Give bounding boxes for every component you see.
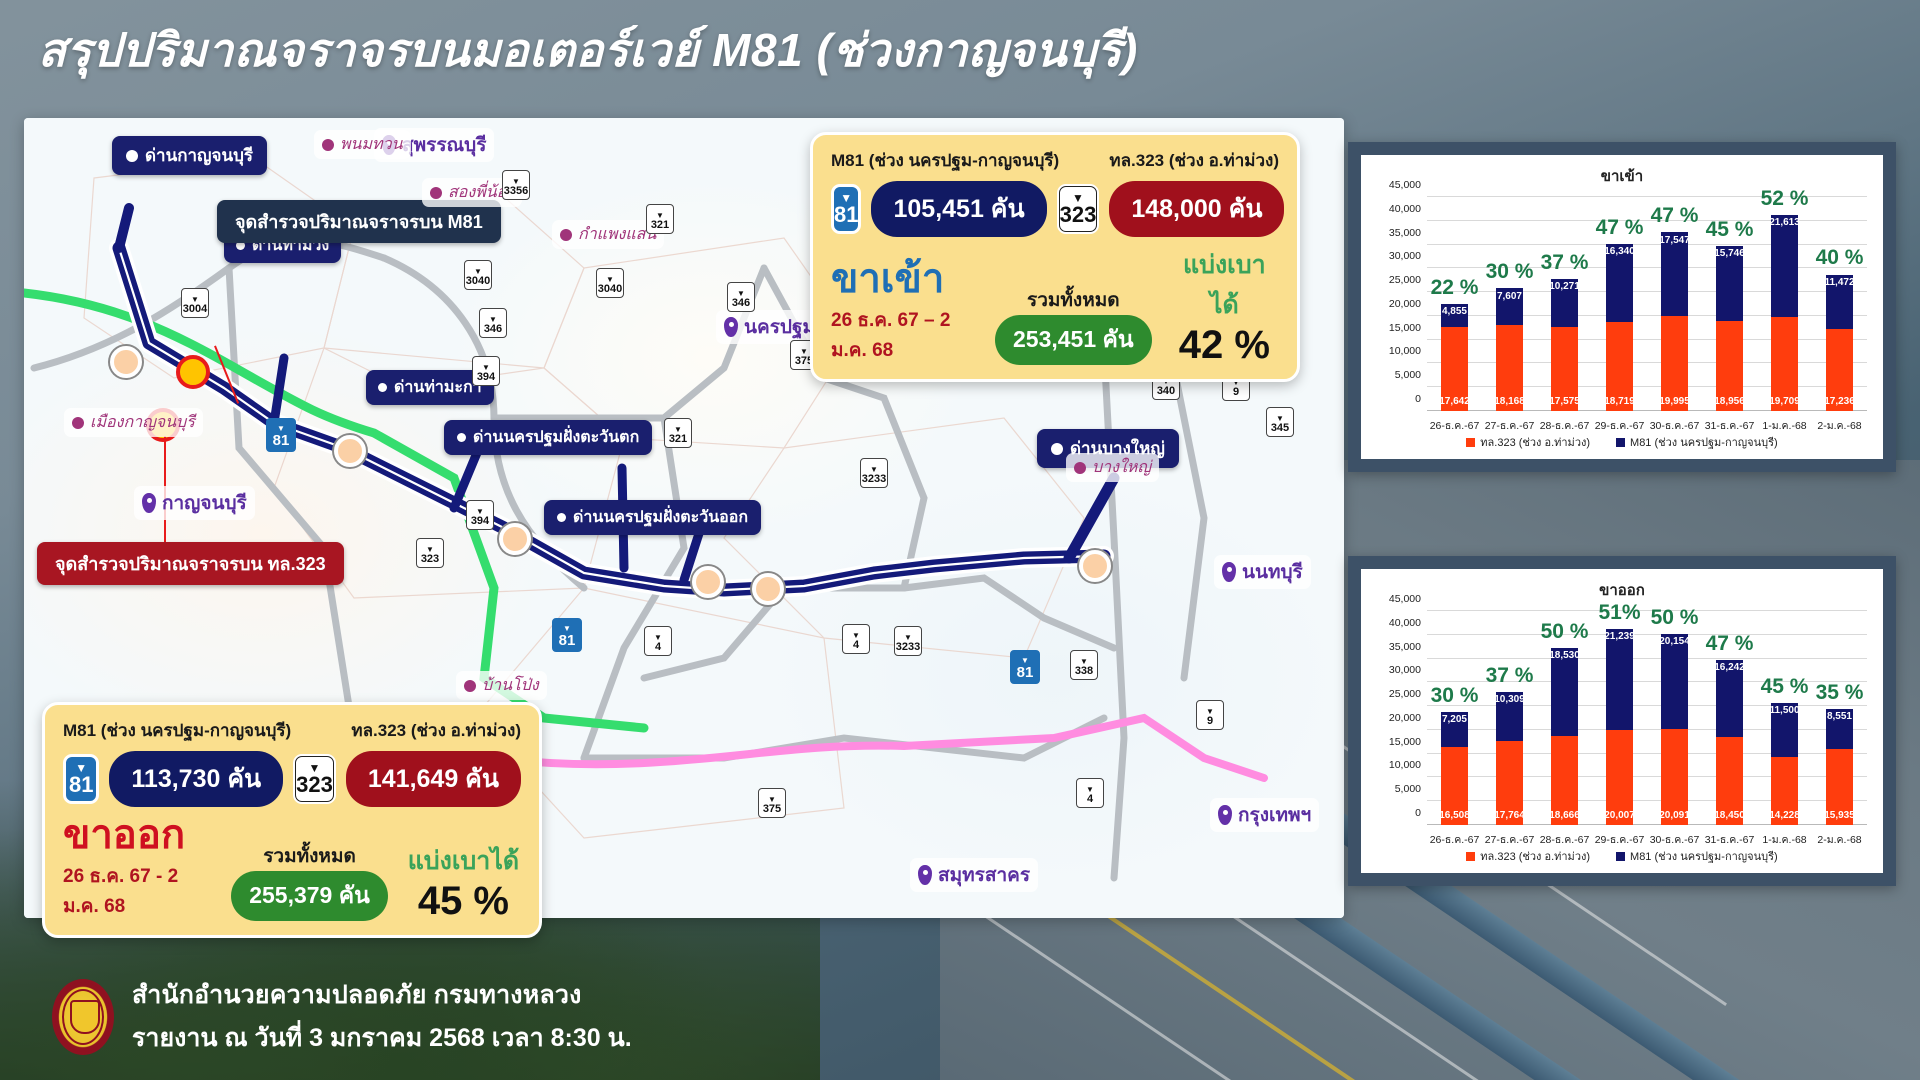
chart-bar-segment: 21,613 (1771, 215, 1797, 318)
outbound-reduce-pct: 45 % (406, 881, 521, 921)
city-label: นนทบุรี (1242, 557, 1303, 587)
chart-value-label: 20,091 (1659, 810, 1690, 821)
checkpoint-dot-icon (557, 513, 566, 522)
chart-bar-segment: 18,530 (1551, 648, 1577, 736)
chart-value-label: 7,205 (1442, 714, 1467, 725)
shield-number: 346 (732, 297, 750, 309)
route-shield: ▼ 3040 (464, 260, 492, 290)
checkpoint-kanchanaburi[interactable]: ด่านกาญจนบุรี (112, 136, 267, 175)
outbound-date-range: 26 ธ.ค. 67 - 2 ม.ค. 68 (63, 861, 213, 921)
chart-bar-segment: 17,575 (1551, 327, 1577, 411)
shield-number: 4 (655, 641, 661, 653)
chart-bar-stack: 17,54719,995 (1661, 232, 1687, 411)
place-dot-icon (464, 680, 476, 692)
chart-bar-stack: 15,74618,956 (1716, 246, 1742, 411)
chart-bar-segment: 15,746 (1716, 246, 1742, 321)
chart-plot-area: 05,00010,00015,00020,00025,00030,00035,0… (1427, 611, 1867, 825)
place-label: บางใหญ่ (1092, 455, 1151, 480)
place-label: บ้านโป่ง (482, 673, 539, 698)
shield-number: 3356 (504, 185, 528, 197)
city-nonthaburi: นนทบุรี (1214, 555, 1311, 589)
chart-y-tick-label: 25,000 (1389, 274, 1421, 286)
outbound-direction-label: ขาออก (63, 815, 213, 855)
chart-bar-column[interactable]: 21,23920,00751%29-ธ.ค.-67 (1592, 611, 1647, 825)
route-shield: ▼ 321 (646, 204, 674, 234)
chart-value-label: 11,500 (1769, 705, 1799, 716)
chart-bar-stack: 11,50014,228 (1771, 703, 1797, 825)
map-pin-icon (1218, 805, 1232, 825)
outbound-total-value: 255,379 คัน (231, 871, 388, 921)
chart-percent-annotation: 37 % (1486, 664, 1534, 688)
chart-bar-segment: 18,719 (1606, 322, 1632, 411)
chart-bar-stack: 16,34018,719 (1606, 244, 1632, 411)
footer-text: สำนักอำนวยความปลอดภัย กรมทางหลวง รายงาน … (132, 975, 632, 1058)
chart-value-label: 16,508 (1439, 810, 1470, 821)
route-shield-81: ▼ 81 (266, 418, 296, 452)
checkpoint-nakhon-pathom-east[interactable]: ด่านนครปฐมฝั่งตะวันออก (544, 500, 761, 535)
chart-percent-annotation: 35 % (1816, 681, 1864, 705)
interchange-node (692, 566, 724, 598)
chart-bar-segment: 17,236 (1826, 329, 1852, 411)
chart-value-label: 20,154 (1659, 636, 1690, 647)
chart-value-label: 17,575 (1549, 396, 1580, 407)
chart-bar-column[interactable]: 4,85517,64222 %26-ธ.ค.-67 (1427, 197, 1482, 411)
place-dot-icon (560, 229, 572, 241)
chart-value-label: 15,935 (1824, 810, 1855, 821)
place-dot-icon (430, 187, 442, 199)
chart-y-tick-label: 10,000 (1389, 345, 1421, 357)
chart-bar-segment: 14,228 (1771, 757, 1797, 825)
chart-percent-annotation: 30 % (1486, 260, 1534, 284)
interchange-node (110, 346, 142, 378)
chart-bar-column[interactable]: 10,27117,57537 %28-ธ.ค.-67 (1537, 197, 1592, 411)
chart-bar-segment: 20,091 (1661, 729, 1687, 825)
route-shield: ▼ 3233 (860, 458, 888, 488)
chart-value-label: 18,666 (1549, 810, 1580, 821)
checkpoint-label: ด่านกาญจนบุรี (145, 142, 253, 169)
checkpoint-nakhon-pathom-west[interactable]: ด่านนครปฐมฝั่งตะวันตก (444, 420, 652, 455)
route-shield: ▼ 345 (1266, 407, 1294, 437)
chart-bar-segment: 16,340 (1606, 244, 1632, 322)
chart-bar-stack: 21,23920,007 (1606, 629, 1632, 825)
city-label: กาญจนบุรี (162, 488, 247, 518)
chart-value-label: 17,236 (1824, 396, 1855, 407)
chart-percent-annotation: 47 % (1706, 632, 1754, 656)
city-nakhon-pathom: นครปฐม (716, 310, 823, 344)
chart-value-label: 18,719 (1604, 396, 1635, 407)
route-shield: ▼ 394 (472, 356, 500, 386)
chart-y-tick-label: 5,000 (1395, 369, 1421, 381)
government-seal-icon (52, 979, 114, 1055)
page-title: สรุปปริมาณจราจรบนมอเตอร์เวย์ M81 (ช่วงกา… (38, 14, 1138, 87)
shield-number: 321 (669, 433, 687, 445)
route-shield: ▼ 346 (479, 308, 507, 338)
chart-bar-segment: 16,242 (1716, 660, 1742, 737)
chart-bar-segment: 18,666 (1551, 736, 1577, 825)
chart-bar-segment: 15,935 (1826, 749, 1852, 825)
chart-bar-segment: 8,551 (1826, 709, 1852, 750)
footer-timestamp: รายงาน ณ วันที่ 3 มกราคม 2568 เวลา 8:30 … (132, 1018, 632, 1058)
chart-bar-stack: 20,15420,091 (1661, 634, 1687, 825)
chart-x-tick-label: 31-ธ.ค.-67 (1705, 417, 1755, 434)
chart-y-tick-label: 20,000 (1389, 712, 1421, 724)
shield-number: 3233 (862, 473, 886, 485)
shield-number: 340 (1157, 385, 1175, 397)
chart-percent-annotation: 52 % (1761, 187, 1809, 211)
chart-bar-segment: 18,168 (1496, 325, 1522, 411)
route-shield: ▼ 3233 (894, 626, 922, 656)
chart-percent-annotation: 50 % (1541, 620, 1589, 644)
chart-y-tick-label: 45,000 (1389, 593, 1421, 605)
outbound-values-row: ▼ 81 113,730 คัน ▼ 323 141,649 คัน (63, 751, 521, 807)
chart-value-label: 18,956 (1714, 396, 1745, 407)
chart-x-tick-label: 26-ธ.ค.-67 (1430, 417, 1480, 434)
shield-number: 346 (484, 323, 502, 335)
route-shield: ▼ 375 (758, 788, 786, 818)
chart-legend-item[interactable]: M81 (ช่วง นครปฐม-กาญจนบุรี) (1616, 847, 1778, 865)
shield-number: 394 (477, 371, 495, 383)
chart-value-label: 15,746 (1714, 248, 1745, 259)
chart-y-tick-label: 40,000 (1389, 203, 1421, 215)
chart-bar-column[interactable]: 21,61319,70952 %1-ม.ค.-68 (1757, 197, 1812, 411)
chart-y-tick-label: 5,000 (1395, 783, 1421, 795)
chart-y-tick-label: 30,000 (1389, 664, 1421, 676)
checkpoint-label: ด่านนครปฐมฝั่งตะวันตก (473, 425, 639, 450)
chart-bar-stack: 21,61319,709 (1771, 215, 1797, 412)
chart-value-label: 17,547 (1659, 235, 1690, 246)
shield-number: 338 (1075, 665, 1093, 677)
chart-title: ขาออก (1361, 578, 1883, 602)
shield-number: 3233 (896, 641, 920, 653)
shield-number: 9 (1233, 386, 1239, 398)
chart-bar-column[interactable]: 16,34018,71947 %29-ธ.ค.-67 (1592, 197, 1647, 411)
inbound-323-label: ทล.323 (ช่วง อ.ท่าม่วง) (1109, 147, 1279, 174)
outbound-total-label: รวมทั้งหมด (231, 841, 388, 871)
chart-y-tick-label: 0 (1415, 807, 1421, 819)
route-badge-number: 81 (69, 774, 93, 796)
checkpoint-dot-icon (126, 150, 138, 162)
chart-legend-item[interactable]: M81 (ช่วง นครปฐม-กาญจนบุรี) (1616, 433, 1778, 451)
place-ban-pong: บ้านโป่ง (456, 671, 547, 700)
city-label: สุพรรณบุรี (402, 130, 486, 160)
outbound-chart-frame: ขาออก05,00010,00015,00020,00025,00030,00… (1348, 556, 1896, 886)
chart-value-label: 19,995 (1659, 396, 1690, 407)
shield-number: 3004 (183, 303, 207, 315)
inbound-reduce-label: แบ่งเบาได้ (1170, 245, 1279, 325)
route-badge-number: 323 (1060, 204, 1097, 226)
city-label: นครปฐม (744, 312, 815, 342)
chart-bar-stack: 16,24218,450 (1716, 660, 1742, 825)
chart-x-tick-label: 28-ธ.ค.-67 (1540, 831, 1590, 848)
city-kanchanaburi: กาญจนบุรี (134, 486, 255, 520)
outbound-reduce-label: แบ่งเบาได้ (406, 841, 521, 881)
chart-bar-column[interactable]: 17,54719,99547 %30-ธ.ค.-67 (1647, 197, 1702, 411)
route-badge-323-icon: ▼ 323 (1057, 184, 1100, 234)
survey-label-323[interactable]: จุดสำรวจปริมาณจราจรบน ทล.323 (37, 542, 344, 585)
chart-x-tick-label: 29-ธ.ค.-67 (1595, 417, 1645, 434)
inbound-323-value: 148,000 คัน (1109, 181, 1284, 237)
route-shield: ▼ 321 (664, 418, 692, 448)
chart-x-tick-label: 30-ธ.ค.-67 (1650, 417, 1700, 434)
chart-bar-stack: 7,20516,508 (1441, 712, 1467, 825)
chart-value-label: 4,855 (1442, 306, 1467, 317)
shield-number: 4 (853, 639, 859, 651)
interchange-node (499, 523, 531, 555)
chart-value-label: 10,309 (1494, 694, 1525, 705)
chart-bar-segment: 16,508 (1441, 747, 1467, 826)
place-dot-icon (72, 417, 84, 429)
city-bangkok: กรุงเทพฯ (1210, 798, 1319, 832)
chart-bar-column[interactable]: 8,55115,93535 %2-ม.ค.-68 (1812, 611, 1867, 825)
interchange-node (334, 435, 366, 467)
chart-bar-stack: 11,47217,236 (1826, 274, 1852, 411)
chart-bar-segment: 19,995 (1661, 316, 1687, 411)
chart-bar-segment: 10,309 (1496, 692, 1522, 741)
chart-bar-column[interactable]: 18,53018,66650 %28-ธ.ค.-67 (1537, 611, 1592, 825)
chart-bar-column[interactable]: 10,30917,76437 %27-ธ.ค.-67 (1482, 611, 1537, 825)
shield-number: 3040 (466, 275, 490, 287)
map-pin-icon (1222, 562, 1236, 582)
chart-bar-segment: 4,855 (1441, 304, 1467, 327)
chart-bar-column[interactable]: 7,20516,50830 %26-ธ.ค.-67 (1427, 611, 1482, 825)
chart-bar-segment: 11,500 (1771, 703, 1797, 758)
route-shield: ▼ 3004 (181, 288, 209, 318)
survey-point-m81 (176, 355, 210, 389)
chart-y-tick-label: 20,000 (1389, 298, 1421, 310)
chart-percent-annotation: 47 % (1651, 204, 1699, 228)
chart-x-tick-label: 31-ธ.ค.-67 (1705, 831, 1755, 848)
chart-bars: 7,20516,50830 %26-ธ.ค.-6710,30917,76437 … (1427, 611, 1867, 825)
outbound-m81-label: M81 (ช่วง นครปฐม-กาญจนบุรี) (63, 717, 291, 744)
inbound-summary-card: M81 (ช่วง นครปฐม-กาญจนบุรี) ทล.323 (ช่วง… (810, 132, 1300, 382)
chart-x-tick-label: 27-ธ.ค.-67 (1485, 417, 1535, 434)
interchange-node (752, 573, 784, 605)
chart-y-tick-label: 30,000 (1389, 250, 1421, 262)
chart-y-tick-label: 35,000 (1389, 641, 1421, 653)
place-bang-yai: บางใหญ่ (1066, 453, 1159, 482)
outbound-m81-value: 113,730 คัน (109, 751, 283, 807)
route-badge-number: 81 (834, 204, 858, 226)
outbound-bottom-row: ขาออก 26 ธ.ค. 67 - 2 ม.ค. 68 รวมทั้งหมด … (63, 815, 521, 921)
checkpoint-label: ด่านท่ามะกา (394, 375, 482, 400)
chart-plot-area: 05,00010,00015,00020,00025,00030,00035,0… (1427, 197, 1867, 411)
chart-percent-annotation: 45 % (1761, 675, 1809, 699)
route-shield: ▼ 4 (1076, 778, 1104, 808)
outbound-chart[interactable]: ขาออก05,00010,00015,00020,00025,00030,00… (1361, 569, 1883, 873)
inbound-date-range: 26 ธ.ค. 67 – 2 ม.ค. 68 (831, 305, 977, 365)
chart-bar-segment: 18,956 (1716, 321, 1742, 411)
inbound-bottom-row: ขาเข้า 26 ธ.ค. 67 – 2 ม.ค. 68 รวมทั้งหมด… (831, 245, 1279, 365)
chart-legend: ทล.323 (ช่วง อ.ท่าม่วง)M81 (ช่วง นครปฐม-… (1361, 433, 1883, 451)
city-samut-sakhon: สมุทรสาคร (910, 858, 1038, 892)
chart-value-label: 10,271 (1549, 281, 1580, 292)
city-label: กรุงเทพฯ (1238, 800, 1311, 830)
chart-bar-stack: 18,53018,666 (1551, 648, 1577, 825)
chart-legend-swatch (1616, 852, 1625, 861)
shield-number: 4 (1087, 793, 1093, 805)
map-pin-icon (142, 493, 156, 513)
chart-value-label: 17,642 (1439, 396, 1470, 407)
inbound-card-header: M81 (ช่วง นครปฐม-กาญจนบุรี) ทล.323 (ช่วง… (831, 147, 1279, 174)
chart-value-label: 11,472 (1824, 277, 1854, 288)
chart-value-label: 21,239 (1604, 631, 1635, 642)
chart-bar-stack: 4,85517,642 (1441, 304, 1467, 411)
chart-legend-label: M81 (ช่วง นครปฐม-กาญจนบุรี) (1630, 847, 1778, 865)
checkpoint-dot-icon (457, 433, 466, 442)
shield-number: 394 (471, 515, 489, 527)
shield-number: 375 (763, 803, 781, 815)
place-label: เมืองกาญจนบุรี (90, 410, 195, 435)
chart-value-label: 16,242 (1714, 662, 1745, 673)
place-dot-icon (322, 139, 334, 151)
chart-value-label: 7,607 (1497, 291, 1522, 302)
chart-x-tick-label: 29-ธ.ค.-67 (1595, 831, 1645, 848)
chart-y-tick-label: 15,000 (1389, 322, 1421, 334)
chart-y-tick-label: 0 (1415, 393, 1421, 405)
inbound-reduce-pct: 42 % (1170, 325, 1279, 365)
chart-legend-swatch (1466, 438, 1475, 447)
chart-bar-segment: 19,709 (1771, 317, 1797, 411)
interchange-node (1079, 550, 1111, 582)
chart-x-tick-label: 2-ม.ค.-68 (1817, 831, 1861, 848)
page-header: สรุปปริมาณจราจรบนมอเตอร์เวย์ M81 (ช่วงกา… (38, 14, 1138, 87)
chart-y-tick-label: 10,000 (1389, 759, 1421, 771)
place-dot-icon (1074, 462, 1086, 474)
chart-value-label: 14,228 (1769, 810, 1800, 821)
chart-y-tick-label: 40,000 (1389, 617, 1421, 629)
chart-bar-column[interactable]: 16,24218,45047 %31-ธ.ค.-67 (1702, 611, 1757, 825)
chart-bar-segment: 10,271 (1551, 279, 1577, 328)
chart-bar-segment: 21,239 (1606, 629, 1632, 730)
chart-bars: 4,85517,64222 %26-ธ.ค.-677,60718,16830 %… (1427, 197, 1867, 411)
chart-x-tick-label: 1-ม.ค.-68 (1762, 417, 1806, 434)
chart-y-tick-label: 35,000 (1389, 227, 1421, 239)
route-shield: ▼ 3040 (596, 268, 624, 298)
route-badge-323-icon: ▼ 323 (293, 754, 336, 804)
survey-label-text: จุดสำรวจปริมาณจราจรบน M81 (235, 207, 483, 236)
route-shield: ▼ 4 (842, 624, 870, 654)
route-shield: ▼ 346 (727, 282, 755, 312)
chart-percent-annotation: 40 % (1816, 246, 1864, 270)
chart-legend-swatch (1466, 852, 1475, 861)
chart-legend-swatch (1616, 438, 1625, 447)
chart-bar-stack: 10,27117,575 (1551, 279, 1577, 411)
chart-legend-item[interactable]: ทล.323 (ช่วง อ.ท่าม่วง) (1466, 847, 1590, 865)
route-shield-81: ▼ 81 (1010, 650, 1040, 684)
chart-y-tick-label: 15,000 (1389, 736, 1421, 748)
chart-percent-annotation: 45 % (1706, 218, 1754, 242)
checkpoint-dot-icon (1051, 443, 1063, 455)
chart-value-label: 19,709 (1769, 396, 1800, 407)
chart-value-label: 18,530 (1549, 650, 1580, 661)
inbound-total-label: รวมทั้งหมด (995, 285, 1152, 315)
route-shield: ▼ 9 (1196, 700, 1224, 730)
survey-label-text: จุดสำรวจปริมาณจราจรบน ทล.323 (55, 549, 326, 578)
chart-legend-label: ทล.323 (ช่วง อ.ท่าม่วง) (1480, 847, 1590, 865)
route-shield: ▼ 323 (416, 538, 444, 568)
inbound-chart[interactable]: ขาเข้า05,00010,00015,00020,00025,00030,0… (1361, 155, 1883, 459)
map-pin-icon (724, 317, 738, 337)
place-phanom-thuan: พนมทวน (314, 130, 411, 159)
shield-number: 81 (273, 432, 290, 449)
chart-percent-annotation: 51% (1598, 601, 1640, 625)
chart-bar-segment: 17,547 (1661, 232, 1687, 315)
chart-x-tick-label: 28-ธ.ค.-67 (1540, 417, 1590, 434)
chart-value-label: 17,764 (1494, 810, 1525, 821)
chart-legend-item[interactable]: ทล.323 (ช่วง อ.ท่าม่วง) (1466, 433, 1590, 451)
chart-bar-stack: 8,55115,935 (1826, 709, 1852, 825)
checkpoint-dot-icon (378, 383, 387, 392)
shield-number: 345 (1271, 422, 1289, 434)
chart-percent-annotation: 47 % (1596, 216, 1644, 240)
chart-legend-label: ทล.323 (ช่วง อ.ท่าม่วง) (1480, 433, 1590, 451)
inbound-m81-value: 105,451 คัน (871, 181, 1046, 237)
chart-percent-annotation: 50 % (1651, 606, 1699, 630)
chart-percent-annotation: 30 % (1431, 684, 1479, 708)
shield-number: 81 (1017, 664, 1034, 681)
route-badge-number: 323 (296, 774, 333, 796)
place-mueang-kanchanaburi: เมืองกาญจนบุรี (64, 408, 203, 437)
place-label: พนมทวน (340, 132, 403, 157)
chart-y-tick-label: 45,000 (1389, 179, 1421, 191)
chart-bar-column[interactable]: 20,15420,09150 %30-ธ.ค.-67 (1647, 611, 1702, 825)
chart-title: ขาเข้า (1361, 164, 1883, 188)
map-pin-icon (918, 865, 932, 885)
chart-bar-stack: 7,60718,168 (1496, 288, 1522, 411)
shield-number: 321 (651, 219, 669, 231)
route-badge-81-icon: ▼ 81 (63, 754, 99, 804)
shield-number: 323 (421, 553, 439, 565)
chart-value-label: 18,450 (1714, 810, 1745, 821)
outbound-card-header: M81 (ช่วง นครปฐม-กาญจนบุรี) ทล.323 (ช่วง… (63, 717, 521, 744)
route-shield: ▼ 3356 (502, 170, 530, 200)
route-shield: ▼ 338 (1070, 650, 1098, 680)
chart-bar-segment: 11,472 (1826, 275, 1852, 330)
chart-bar-column[interactable]: 7,60718,16830 %27-ธ.ค.-67 (1482, 197, 1537, 411)
chart-value-label: 21,613 (1769, 217, 1800, 228)
chart-bar-segment: 20,154 (1661, 634, 1687, 730)
inbound-direction-label: ขาเข้า (831, 259, 977, 299)
chart-x-tick-label: 2-ม.ค.-68 (1817, 417, 1861, 434)
checkpoint-label: ด่านนครปฐมฝั่งตะวันออก (573, 505, 748, 530)
shield-number: 3040 (598, 283, 622, 295)
route-badge-81-icon: ▼ 81 (831, 184, 861, 234)
shield-number: 9 (1207, 715, 1213, 727)
outbound-323-label: ทล.323 (ช่วง อ.ท่าม่วง) (351, 717, 521, 744)
inbound-values-row: ▼ 81 105,451 คัน ▼ 323 148,000 คัน (831, 181, 1279, 237)
footer-agency: สำนักอำนวยความปลอดภัย กรมทางหลวง (132, 975, 632, 1015)
route-shield-81: ▼ 81 (552, 618, 582, 652)
shield-number: 81 (559, 632, 576, 649)
chart-legend-label: M81 (ช่วง นครปฐม-กาญจนบุรี) (1630, 433, 1778, 451)
chart-x-tick-label: 1-ม.ค.-68 (1762, 831, 1806, 848)
outbound-323-value: 141,649 คัน (346, 751, 521, 807)
chart-bar-column[interactable]: 11,50014,22845 %1-ม.ค.-68 (1757, 611, 1812, 825)
inbound-total-value: 253,451 คัน (995, 315, 1152, 365)
chart-legend: ทล.323 (ช่วง อ.ท่าม่วง)M81 (ช่วง นครปฐม-… (1361, 847, 1883, 865)
chart-bar-segment: 7,205 (1441, 712, 1467, 746)
footer: สำนักอำนวยความปลอดภัย กรมทางหลวง รายงาน … (52, 975, 632, 1058)
chart-bar-stack: 10,30917,764 (1496, 692, 1522, 826)
inbound-m81-label: M81 (ช่วง นครปฐม-กาญจนบุรี) (831, 147, 1059, 174)
inbound-chart-frame: ขาเข้า05,00010,00015,00020,00025,00030,0… (1348, 142, 1896, 472)
chart-value-label: 18,168 (1494, 396, 1525, 407)
chart-bar-column[interactable]: 11,47217,23640 %2-ม.ค.-68 (1812, 197, 1867, 411)
chart-bar-segment: 20,007 (1606, 730, 1632, 825)
chart-bar-segment: 17,642 (1441, 327, 1467, 411)
chart-bar-column[interactable]: 15,74618,95645 %31-ธ.ค.-67 (1702, 197, 1757, 411)
chart-x-tick-label: 26-ธ.ค.-67 (1430, 831, 1480, 848)
